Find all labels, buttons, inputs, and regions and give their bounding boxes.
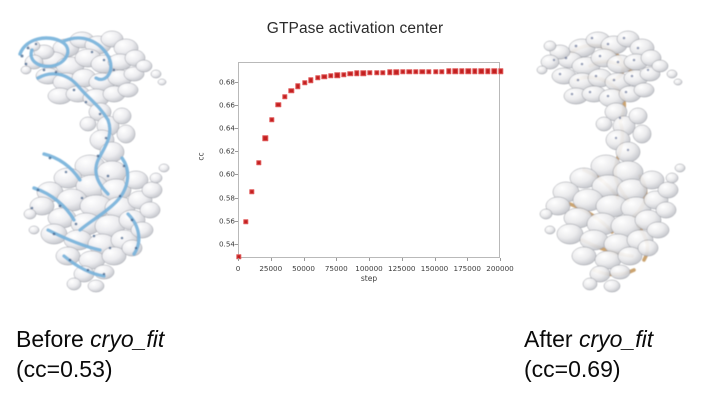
x-axis-tick-mark [500, 258, 501, 261]
y-axis-tick-label: 0.54 [219, 240, 235, 249]
x-axis-tick-label: 125000 [388, 264, 415, 273]
caption-after-prefix: After [524, 326, 579, 352]
y-axis-tick-label: 0.64 [219, 124, 235, 133]
cryo-em-map-before-svg [4, 8, 200, 314]
y-axis-tick-label: 0.60 [219, 170, 235, 179]
x-axis-tick-label: 200000 [486, 264, 513, 273]
x-axis-tick-label: 25000 [259, 264, 282, 273]
y-axis-tick-label: 0.68 [219, 77, 235, 86]
x-axis-tick-label: 175000 [454, 264, 481, 273]
y-axis-tick-label: 0.66 [219, 100, 235, 109]
y-axis-tick-label: 0.56 [219, 216, 235, 225]
density-blobs-before [20, 31, 169, 292]
y-axis-tick-label: 0.62 [219, 147, 235, 156]
x-axis-tick-label: 0 [236, 264, 241, 273]
y-axis-tick-labels: 0.540.560.580.600.620.640.660.68 [208, 62, 235, 258]
x-axis-tick-marks [238, 62, 500, 258]
caption-after-cc: (cc=0.69) [524, 354, 653, 384]
y-axis-label: cc [197, 152, 206, 160]
cryo-em-map-after-svg [520, 8, 716, 314]
x-axis-tick-label: 50000 [292, 264, 315, 273]
x-axis-tick-label: 75000 [325, 264, 348, 273]
structure-image-after [520, 8, 716, 314]
caption-before-prefix: Before [16, 326, 90, 352]
caption-before-program: cryo_fit [90, 326, 164, 352]
x-axis-tick-label: 100000 [355, 264, 382, 273]
cc-vs-step-chart: GTPase activation center cc 0.540.560.58… [200, 10, 510, 305]
y-axis-tick-label: 0.58 [219, 193, 235, 202]
x-axis-tick-label: 150000 [421, 264, 448, 273]
caption-before: Before cryo_fit (cc=0.53) [16, 324, 164, 384]
density-blobs-after [537, 31, 685, 292]
caption-before-cc: (cc=0.53) [16, 354, 164, 384]
caption-after: After cryo_fit (cc=0.69) [524, 324, 653, 384]
chart-title: GTPase activation center [200, 20, 510, 38]
x-axis-label: step [238, 274, 500, 283]
x-axis-tick-labels: 0250005000075000100000125000150000175000… [238, 259, 500, 273]
caption-after-program: cryo_fit [579, 326, 653, 352]
structure-image-before [4, 8, 200, 314]
